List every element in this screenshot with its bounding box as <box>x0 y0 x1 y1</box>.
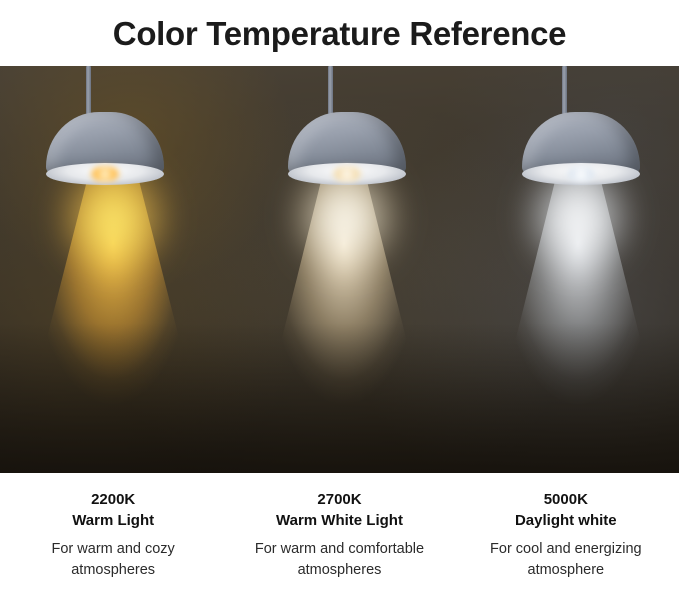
lamp-cord <box>562 66 567 114</box>
caption-column-warm-white: 2700K Warm White Light For warm and comf… <box>226 473 452 608</box>
light-name: Daylight white <box>515 510 617 531</box>
caption-column-warm: 2200K Warm Light For warm and cozy atmos… <box>0 473 226 608</box>
page-title: Color Temperature Reference <box>113 17 566 50</box>
kelvin-value: 5000K <box>544 489 588 510</box>
pendant-lamps-photo <box>0 66 679 473</box>
lamp-bulb <box>90 166 120 182</box>
photo-bottom-shadow <box>0 323 679 473</box>
caption-row: 2200K Warm Light For warm and cozy atmos… <box>0 473 679 608</box>
kelvin-value: 2700K <box>317 489 361 510</box>
light-description: For warm and cozy atmospheres <box>21 539 206 581</box>
light-description: For warm and comfortable atmospheres <box>247 539 432 581</box>
lamp-bulb <box>332 166 362 182</box>
caption-column-daylight: 5000K Daylight white For cool and energi… <box>453 473 679 608</box>
title-bar: Color Temperature Reference <box>0 0 679 66</box>
color-temperature-reference-card: Color Temperature Reference <box>0 0 679 608</box>
light-name: Warm Light <box>72 510 154 531</box>
light-description: For cool and energizing atmosphere <box>473 539 658 581</box>
lamp-cord <box>86 66 91 114</box>
lamp-cord <box>328 66 333 114</box>
kelvin-value: 2200K <box>91 489 135 510</box>
light-name: Warm White Light <box>276 510 403 531</box>
lamp-bulb <box>566 166 596 182</box>
